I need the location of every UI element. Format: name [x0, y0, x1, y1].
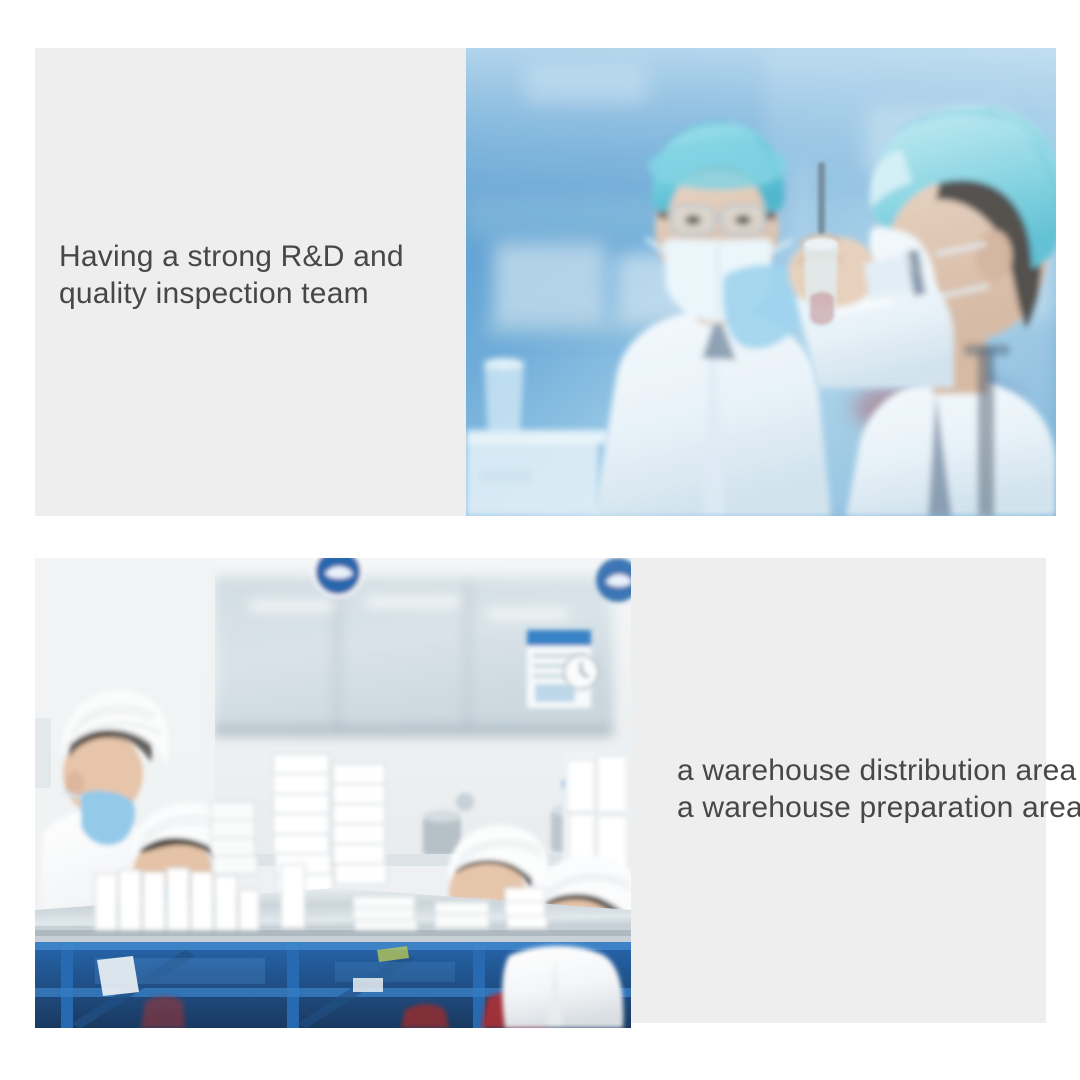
bottom-section: a warehouse distribution area a warehous…: [35, 558, 1046, 1028]
top-caption-text: Having a strong R&D and quality inspecti…: [59, 238, 459, 312]
bottom-caption-text: a warehouse distribution area a warehous…: [677, 752, 1080, 826]
poster-page: Having a strong R&D and quality inspecti…: [0, 0, 1080, 1080]
top-section: Having a strong R&D and quality inspecti…: [35, 48, 1056, 516]
lab-technicians-quality-inspection-photo: [466, 48, 1056, 516]
warehouse-photo-graphic: [35, 558, 631, 1028]
bottom-caption-panel: a warehouse distribution area a warehous…: [631, 558, 1046, 1023]
lab-photo-graphic: [466, 48, 1056, 516]
warehouse-packaging-line-photo: [35, 558, 631, 1028]
top-caption-panel: Having a strong R&D and quality inspecti…: [35, 48, 466, 516]
